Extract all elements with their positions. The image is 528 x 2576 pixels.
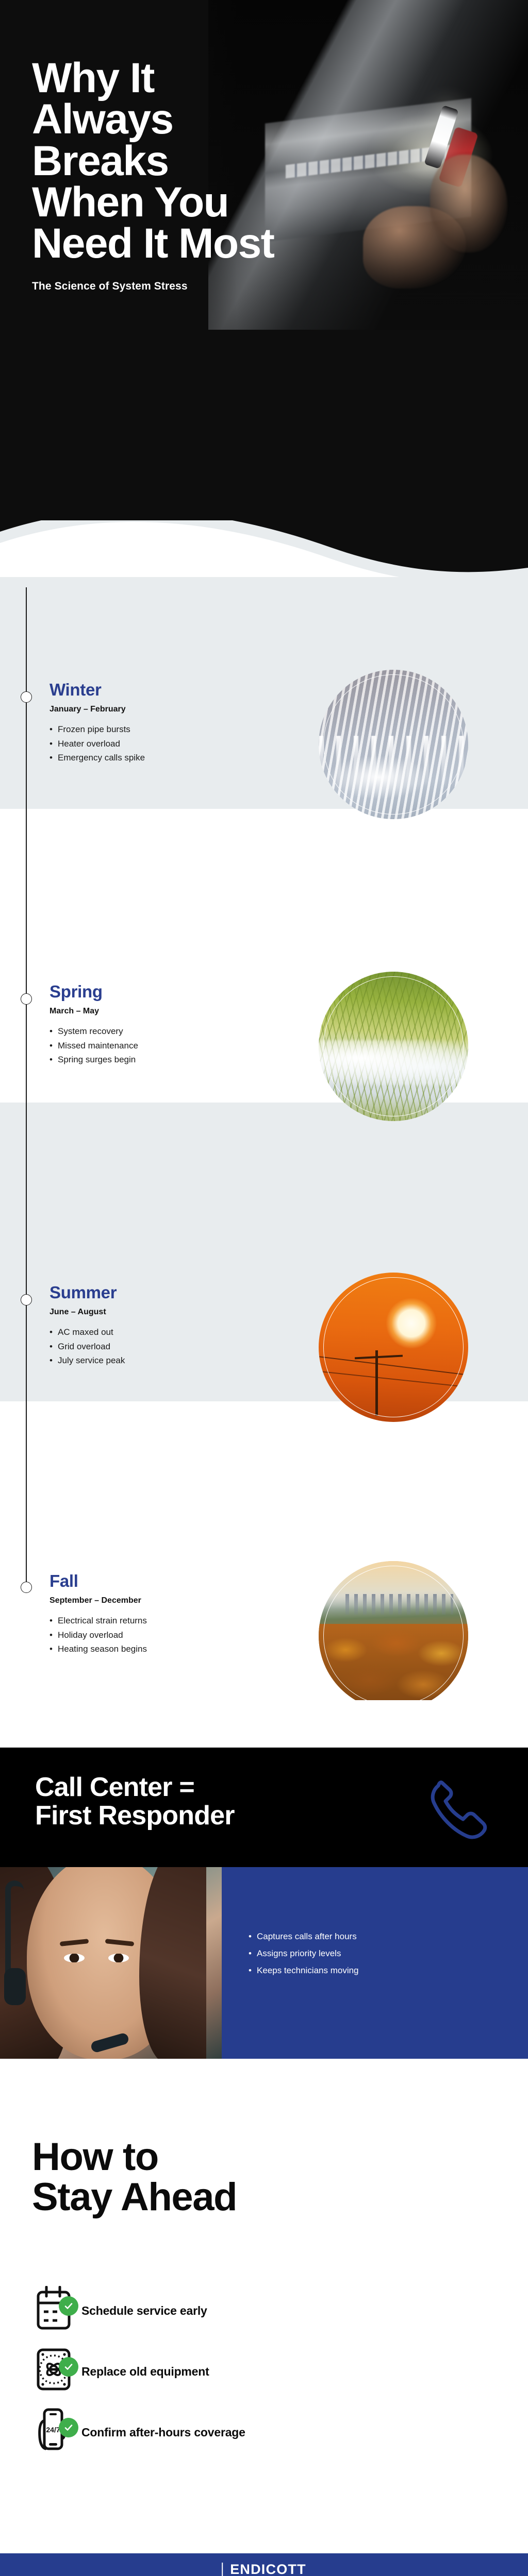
season-months-spring: March – May	[49, 1007, 266, 1016]
call-center-bullet-list: Captures calls after hours Assigns prior…	[249, 1928, 359, 1979]
season-title-winter: Winter	[49, 680, 266, 700]
power-wire-lower	[319, 1371, 468, 1387]
hero-title-line-1: Why It	[32, 55, 154, 101]
season-image-summer	[319, 1273, 468, 1422]
list-item: Emergency calls spike	[49, 751, 266, 765]
season-months-fall: September – December	[49, 1596, 266, 1605]
list-item: Frozen pipe bursts	[49, 722, 266, 737]
list-item: Holiday overload	[49, 1628, 266, 1642]
list-item: AC maxed out	[49, 1325, 266, 1340]
season-months-winter: January – February	[49, 705, 266, 714]
phone-24-7-icon: 24/7	[32, 2404, 81, 2460]
season-bullets-fall: Electrical strain returns Holiday overlo…	[49, 1614, 266, 1656]
hero-subtitle: The Science of System Stress	[32, 280, 372, 293]
logo-divider-bar	[222, 2563, 223, 2576]
hero-title-line-5: Need It Most	[32, 220, 274, 267]
timeline-node-summer	[21, 1294, 32, 1306]
phone-handset-icon	[423, 1776, 490, 1843]
call-center-heading-band: Call Center = First Responder	[0, 1748, 528, 1867]
season-title-fall: Fall	[49, 1571, 266, 1591]
seasonal-timeline-section: Winter January – February Frozen pipe bu…	[0, 520, 528, 1700]
tip-label: Replace old equipment	[81, 2365, 209, 2379]
hero-text-block: Why It Always Breaks When You Need It Mo…	[32, 58, 372, 293]
season-block-winter: Winter January – February Frozen pipe bu…	[49, 680, 266, 765]
timeline-rail	[26, 587, 27, 1582]
list-item: Heater overload	[49, 737, 266, 751]
stay-ahead-heading: How to Stay Ahead	[32, 2137, 237, 2217]
wave-divider-hero	[0, 520, 528, 577]
icicle-drips	[319, 736, 468, 792]
stay-ahead-section: How to Stay Ahead Schedule	[0, 2059, 528, 2553]
power-wire-upper	[319, 1356, 468, 1375]
season-block-fall: Fall September – December Electrical str…	[49, 1571, 266, 1656]
call-center-benefits-panel: Captures calls after hours Assigns prior…	[222, 1867, 528, 2059]
list-item: Replace old equipment	[32, 2341, 496, 2402]
call-center-body: Captures calls after hours Assigns prior…	[0, 1867, 528, 2059]
tip-label: Schedule service early	[81, 2304, 207, 2318]
call-center-agent-photo	[0, 1867, 222, 2059]
stay-ahead-tip-list: Schedule service early	[32, 2280, 496, 2463]
stay-ahead-heading-line-1: How to	[32, 2135, 158, 2179]
list-item: Heating season begins	[49, 1642, 266, 1656]
season-bullets-winter: Frozen pipe bursts Heater overload Emerg…	[49, 722, 266, 765]
season-block-summer: Summer June – August AC maxed out Grid o…	[49, 1283, 266, 1368]
city-skyline	[345, 1594, 453, 1615]
timeline-node-winter	[21, 691, 32, 703]
hero-title-line-2: Always	[32, 96, 173, 143]
phone-badge-label: 24/7	[46, 2426, 60, 2434]
utility-pole	[375, 1350, 378, 1416]
call-center-heading: Call Center = First Responder	[35, 1773, 235, 1830]
call-center-heading-line-1: Call Center =	[35, 1772, 194, 1802]
season-title-spring: Spring	[49, 982, 266, 1002]
list-item: System recovery	[49, 1024, 266, 1039]
stay-ahead-heading-line-2: Stay Ahead	[32, 2175, 237, 2219]
logo-text-block: ENDICOTT Call Centers	[230, 2563, 306, 2576]
agent-hair-right	[139, 1867, 206, 2059]
utility-crossarm	[355, 1355, 403, 1360]
call-center-heading-line-2: First Responder	[35, 1801, 235, 1831]
check-badge-icon	[59, 2418, 78, 2437]
tip-label: Confirm after-hours coverage	[81, 2426, 245, 2439]
list-item: Missed maintenance	[49, 1039, 266, 1053]
list-item: Spring surges begin	[49, 1053, 266, 1067]
check-badge-icon	[59, 2296, 78, 2316]
calendar-icon	[32, 2283, 81, 2338]
autumn-canopy	[319, 1624, 468, 1700]
melting-snow-patch	[319, 1040, 468, 1085]
season-months-summer: June – August	[49, 1308, 266, 1317]
hero-title-line-4: When You	[32, 179, 228, 226]
agent-eye-left	[64, 1954, 85, 1962]
list-item: Keeps technicians moving	[249, 1962, 359, 1979]
brand-name: ENDICOTT	[230, 2562, 306, 2576]
hero-title-line-3: Breaks	[32, 138, 169, 184]
list-item: Captures calls after hours	[249, 1928, 359, 1945]
season-bullets-summer: AC maxed out Grid overload July service …	[49, 1325, 266, 1368]
season-block-spring: Spring March – May System recovery Misse…	[49, 982, 266, 1067]
list-item: Grid overload	[49, 1340, 266, 1354]
brand-logo: ENDICOTT Call Centers	[222, 2563, 306, 2576]
page-title: Why It Always Breaks When You Need It Mo…	[32, 58, 372, 265]
headset-earcup	[4, 1968, 26, 2005]
fan-unit-icon	[32, 2344, 81, 2399]
timeline-node-fall	[21, 1582, 32, 1593]
season-bullets-spring: System recovery Missed maintenance Sprin…	[49, 1024, 266, 1067]
agent-eye-right	[108, 1954, 129, 1962]
footer-bar: ENDICOTT Call Centers	[0, 2553, 528, 2576]
check-badge-icon	[59, 2357, 78, 2377]
hero-section: Why It Always Breaks When You Need It Mo…	[0, 0, 528, 520]
season-title-summer: Summer	[49, 1283, 266, 1302]
list-item: Assigns priority levels	[249, 1945, 359, 1962]
list-item: 24/7 Confirm after-hours coverage	[32, 2402, 496, 2463]
season-image-winter	[319, 670, 468, 819]
timeline-node-spring	[21, 993, 32, 1005]
season-image-fall	[319, 1561, 468, 1700]
season-image-spring	[319, 972, 468, 1121]
list-item: July service peak	[49, 1353, 266, 1368]
list-item: Schedule service early	[32, 2280, 496, 2341]
list-item: Electrical strain returns	[49, 1614, 266, 1628]
